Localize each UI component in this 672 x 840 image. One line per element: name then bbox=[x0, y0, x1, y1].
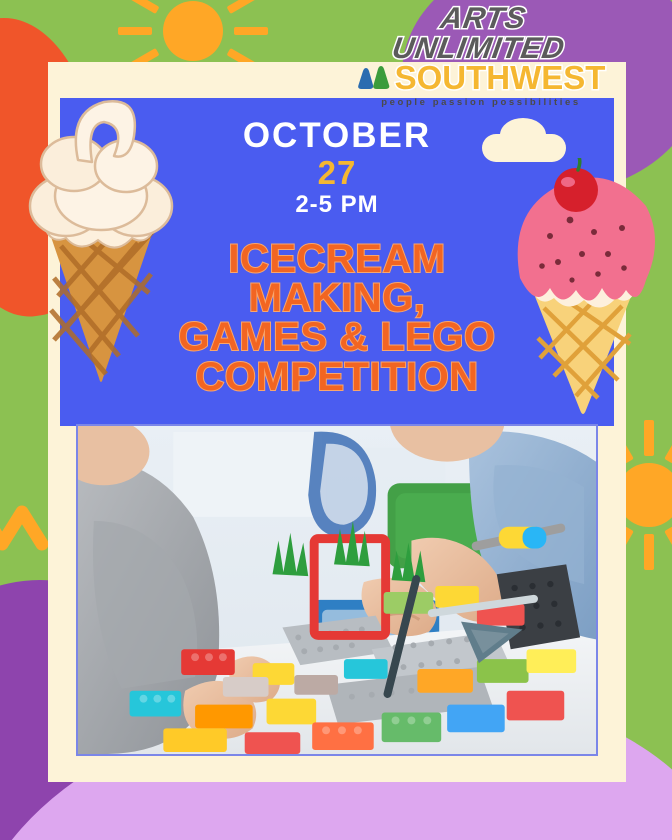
mountains-icon bbox=[357, 65, 391, 91]
strawberry-ice-cream-cone-with-cherry bbox=[498, 158, 668, 428]
organization-logo: ARTS UNLIMITED SOUTHWEST people passion … bbox=[352, 4, 610, 90]
logo-line-1: ARTS UNLIMITED bbox=[347, 4, 615, 64]
logo-line-2: SOUTHWEST bbox=[395, 61, 606, 94]
vanilla-ice-cream-cone bbox=[6, 78, 196, 398]
event-photo bbox=[76, 424, 598, 756]
event-poster: OCTOBER 27 2-5 PM ICECREAM MAKING, GAMES… bbox=[0, 0, 672, 840]
logo-tagline: people passion possibilities bbox=[352, 97, 610, 108]
